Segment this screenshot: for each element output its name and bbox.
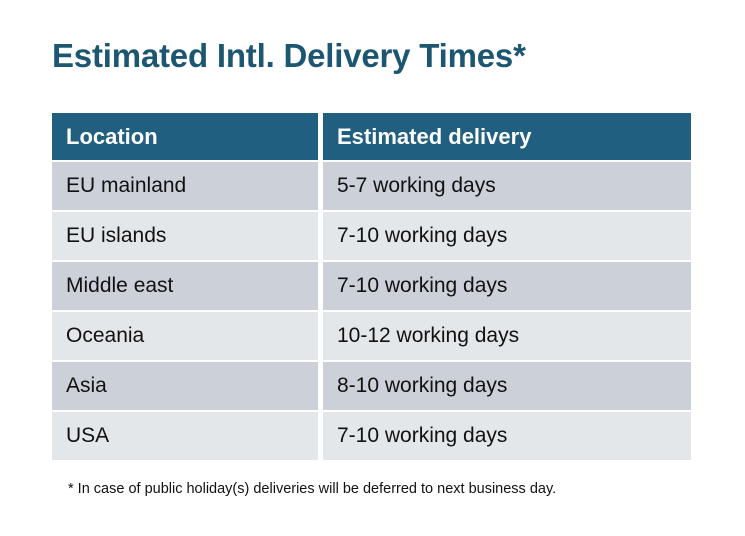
table-row: Asia 8-10 working days xyxy=(52,362,691,410)
table-row: USA 7-10 working days xyxy=(52,412,691,460)
cell-estimated-delivery: 7-10 working days xyxy=(323,262,691,310)
column-header-location: Location xyxy=(52,113,318,160)
footnote: * In case of public holiday(s) deliverie… xyxy=(68,479,556,499)
delivery-times-page: Estimated Intl. Delivery Times* Location… xyxy=(0,0,745,536)
cell-location: EU mainland xyxy=(52,162,318,210)
cell-location: Oceania xyxy=(52,312,318,360)
table-row: EU mainland 5-7 working days xyxy=(52,162,691,210)
column-header-estimated-delivery: Estimated delivery xyxy=(323,113,691,160)
cell-estimated-delivery: 8-10 working days xyxy=(323,362,691,410)
table-row: Oceania 10-12 working days xyxy=(52,312,691,360)
estimated-delivery-table: Location Estimated delivery EU mainland … xyxy=(52,113,691,460)
cell-estimated-delivery: 10-12 working days xyxy=(323,312,691,360)
page-title: Estimated Intl. Delivery Times* xyxy=(52,36,526,76)
cell-location: EU islands xyxy=(52,212,318,260)
table-row: Middle east 7-10 working days xyxy=(52,262,691,310)
table-header-row: Location Estimated delivery xyxy=(52,113,691,160)
cell-location: Middle east xyxy=(52,262,318,310)
cell-location: Asia xyxy=(52,362,318,410)
cell-estimated-delivery: 7-10 working days xyxy=(323,412,691,460)
cell-location: USA xyxy=(52,412,318,460)
table-row: EU islands 7-10 working days xyxy=(52,212,691,260)
cell-estimated-delivery: 7-10 working days xyxy=(323,212,691,260)
cell-estimated-delivery: 5-7 working days xyxy=(323,162,691,210)
